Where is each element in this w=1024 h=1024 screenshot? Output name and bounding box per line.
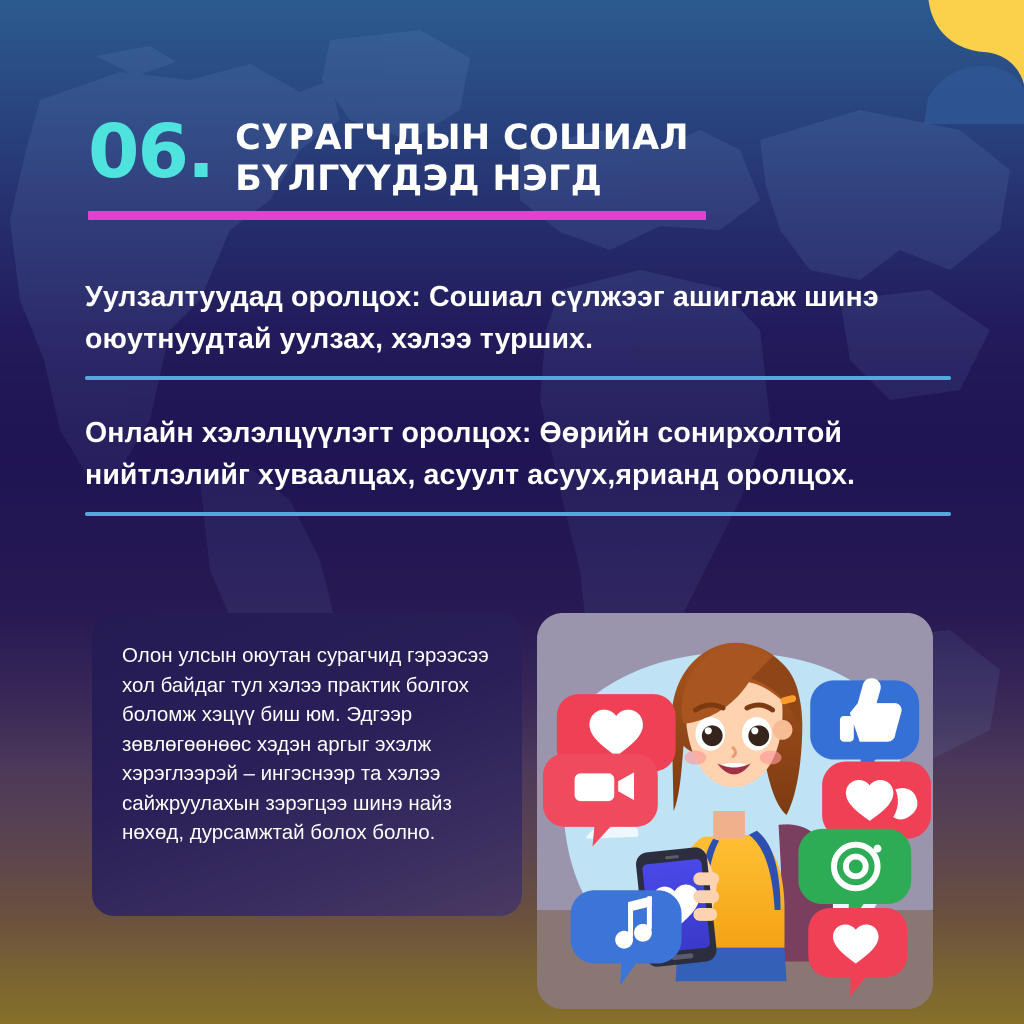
paragraph-text: Уулзалтуудад оролцох: Сошиал сүлжээг аши…: [85, 277, 951, 360]
corner-blob-decoration: [868, 0, 1024, 124]
note-card-text: Олон улсын оюутан сурагчид гэрээсээ хол …: [122, 641, 492, 848]
paragraph-divider: [85, 376, 951, 380]
page-title: СУРАГЧДЫН СОШИАЛ БҮЛГҮҮДЭД НЭГД: [235, 112, 689, 201]
title-line-2: БҮЛГҮҮДЭД НЭГД: [235, 159, 689, 200]
paragraph-text: Онлайн хэлэлцүүлэгт оролцох: Өөрийн сони…: [85, 413, 951, 496]
header-underline: [88, 211, 706, 220]
infographic-slide: 06. СУРАГЧДЫН СОШИАЛ БҮЛГҮҮДЭД НЭГД Уулз…: [0, 0, 1024, 1024]
paragraph-divider: [85, 512, 951, 516]
step-number: 06.: [88, 118, 213, 186]
header: 06. СУРАГЧДЫН СОШИАЛ БҮЛГҮҮДЭД НЭГД: [88, 112, 728, 220]
header-row: 06. СУРАГЧДЫН СОШИАЛ БҮЛГҮҮДЭД НЭГД: [88, 112, 728, 201]
title-line-1: СУРАГЧДЫН СОШИАЛ: [235, 112, 689, 159]
illustration-frame: [537, 613, 933, 1009]
paragraph-block-meetups: Уулзалтуудад оролцох: Сошиал сүлжээг аши…: [85, 277, 951, 380]
paragraph-block-online-discussion: Онлайн хэлэлцүүлэгт оролцох: Өөрийн сони…: [85, 413, 951, 516]
note-card: Олон улсын оюутан сурагчид гэрээсээ хол …: [92, 613, 522, 916]
